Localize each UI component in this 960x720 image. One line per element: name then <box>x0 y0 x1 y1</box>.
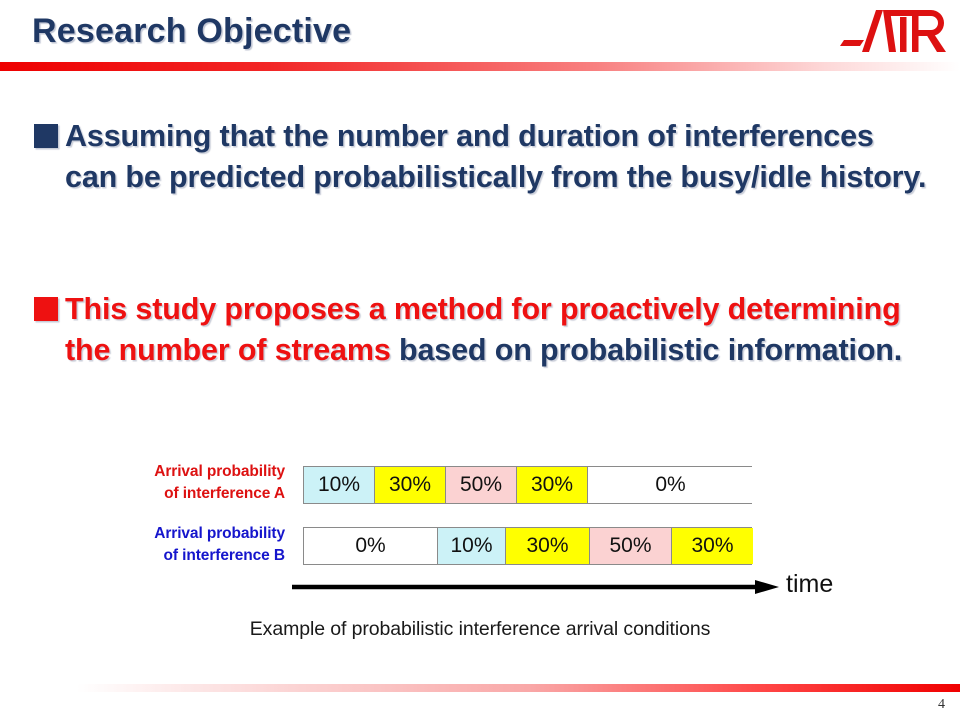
row-a-label: Arrival probability of interference A <box>85 461 285 506</box>
atr-logo <box>838 6 948 58</box>
timeline-segment: 30% <box>517 467 588 503</box>
row-b-label: Arrival probability of interference B <box>85 523 285 568</box>
timeline-segment: 30% <box>375 467 446 503</box>
timeline-segment: 10% <box>304 467 375 503</box>
diagram-caption: Example of probabilistic interference ar… <box>0 618 960 641</box>
time-axis-arrow <box>290 579 780 597</box>
row-a-label-line1: Arrival probability <box>154 463 285 480</box>
timeline-segment: 10% <box>438 528 506 564</box>
footer-divider <box>0 684 960 692</box>
row-a-label-line2: of interference A <box>164 485 285 502</box>
timeline-segment: 50% <box>590 528 672 564</box>
row-b-label-line2: of interference B <box>164 547 285 564</box>
time-axis-label: time <box>786 570 833 599</box>
bullet-item-2: This study proposes a method for proacti… <box>34 289 934 370</box>
bullet-item-1: Assuming that the number and duration of… <box>34 116 934 197</box>
timeline-bar-b: 0%10%30%50%30% <box>303 527 752 565</box>
bullet-square-icon <box>34 124 58 148</box>
bullet-1-run-1: Assuming that the number and duration of… <box>65 119 926 194</box>
row-b-label-line1: Arrival probability <box>154 525 285 542</box>
bullet-1-text: Assuming that the number and duration of… <box>65 116 934 197</box>
timeline-segment: 50% <box>446 467 517 503</box>
interference-timeline-diagram: Arrival probability of interference A Ar… <box>0 450 960 660</box>
timeline-segment: 30% <box>506 528 590 564</box>
timeline-segment: 0% <box>304 528 438 564</box>
page-number: 4 <box>938 697 945 713</box>
bullet-square-icon <box>34 297 58 321</box>
bullet-2-text: This study proposes a method for proacti… <box>65 289 934 370</box>
timeline-bar-a: 10%30%50%30%0% <box>303 466 752 504</box>
header-divider <box>0 62 960 71</box>
bullet-2-run-2: based on probabilistic information. <box>399 333 902 367</box>
page-title: Research Objective <box>32 12 351 51</box>
timeline-segment: 0% <box>588 467 753 503</box>
timeline-segment: 30% <box>672 528 753 564</box>
